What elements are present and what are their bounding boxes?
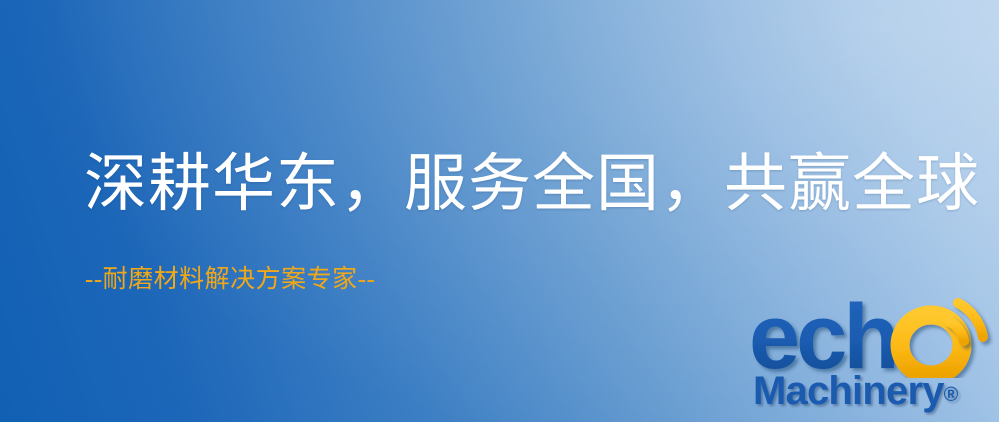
echo-machinery-logo[interactable]: ech Machinery® bbox=[745, 288, 999, 422]
banner-subtitle: --耐磨材料解决方案专家-- bbox=[85, 266, 375, 294]
echo-wordmark-icon: ech bbox=[747, 292, 997, 378]
logo-tagline-text: Machinery bbox=[753, 369, 944, 413]
hero-banner: 深耕华东，服务全国，共赢全球 --耐磨材料解决方案专家-- bbox=[0, 0, 999, 422]
svg-text:ech: ech bbox=[749, 292, 896, 378]
logo-tagline: Machinery® bbox=[753, 371, 958, 411]
banner-headline: 深耕华东，服务全国，共赢全球 bbox=[84, 152, 980, 218]
registered-trademark-icon: ® bbox=[944, 384, 959, 406]
